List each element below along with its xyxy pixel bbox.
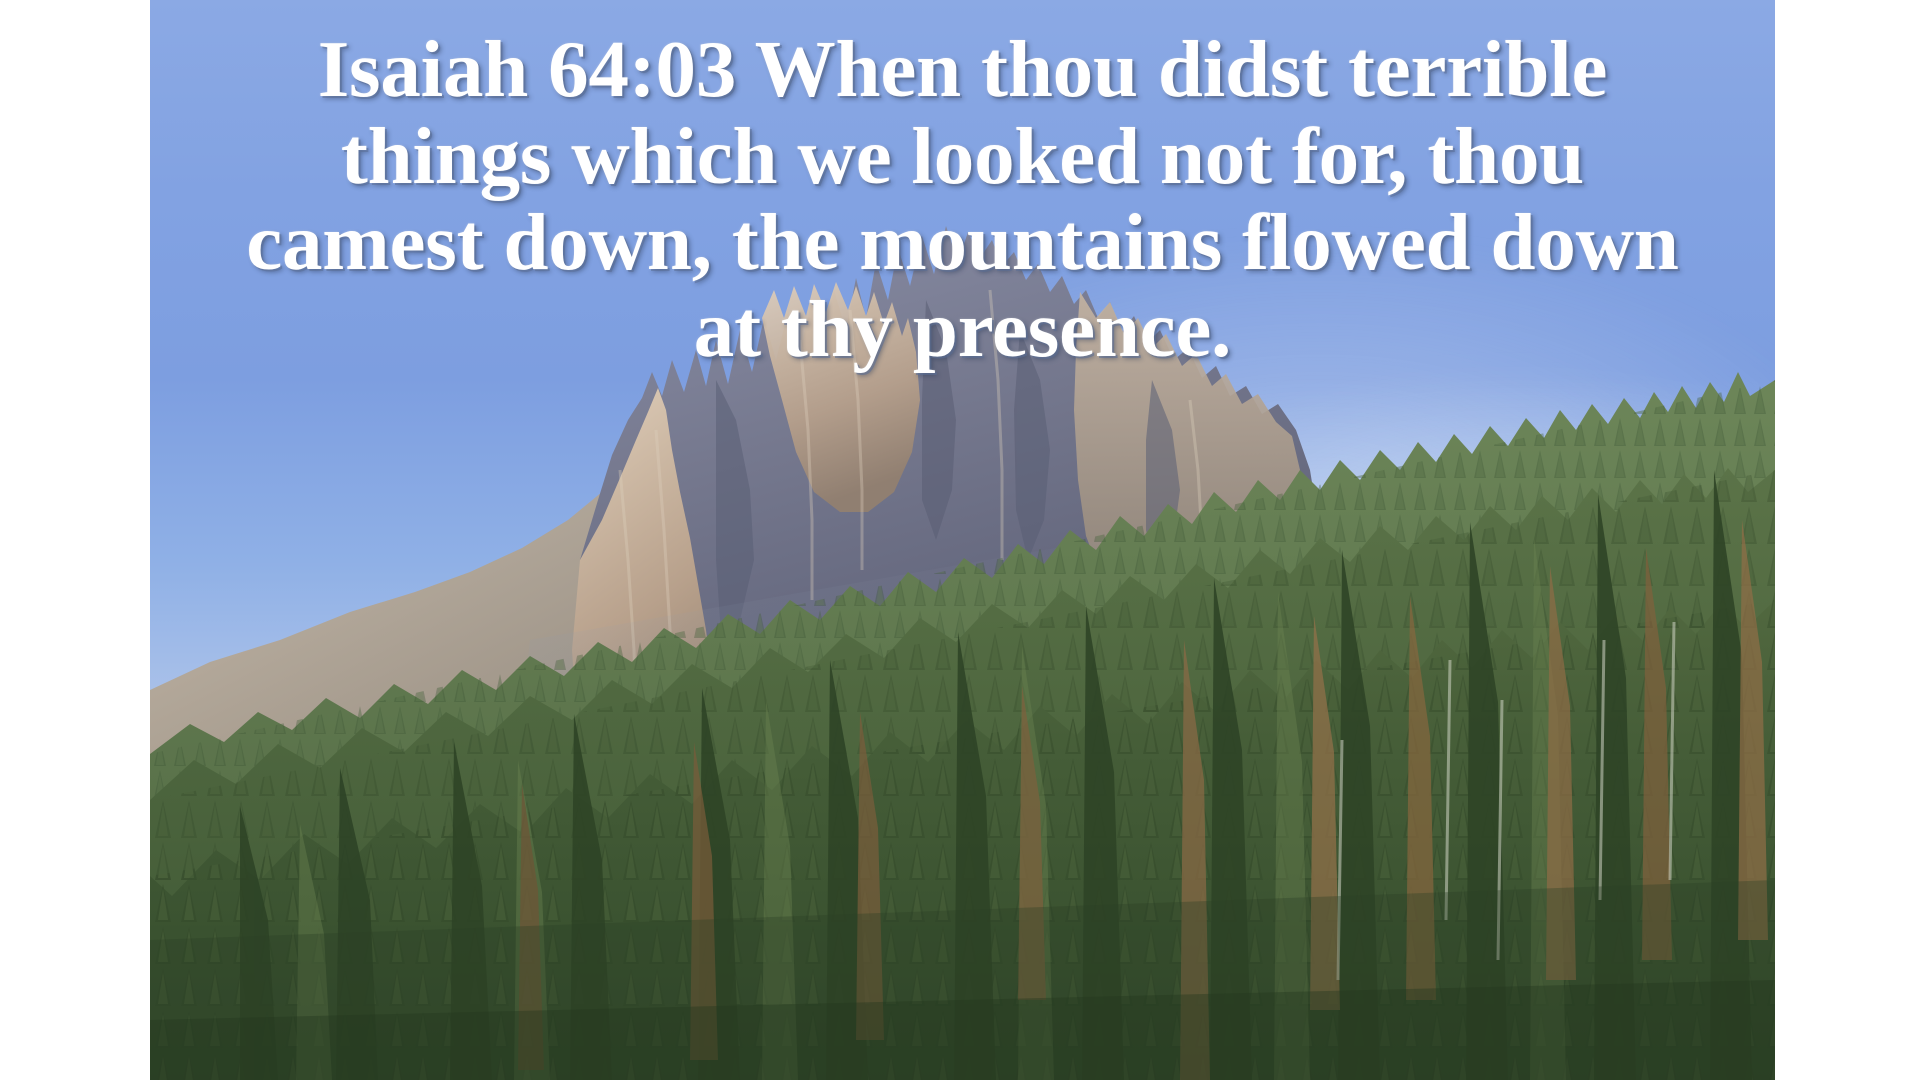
- verse-text: Isaiah 64:03 When thou didst terrible th…: [228, 26, 1697, 373]
- left-page-margin: [0, 0, 150, 1080]
- verse-text-block: Isaiah 64:03 When thou didst terrible th…: [150, 26, 1775, 373]
- right-page-margin: [1775, 0, 1920, 1080]
- slide-stage: Isaiah 64:03 When thou didst terrible th…: [0, 0, 1920, 1080]
